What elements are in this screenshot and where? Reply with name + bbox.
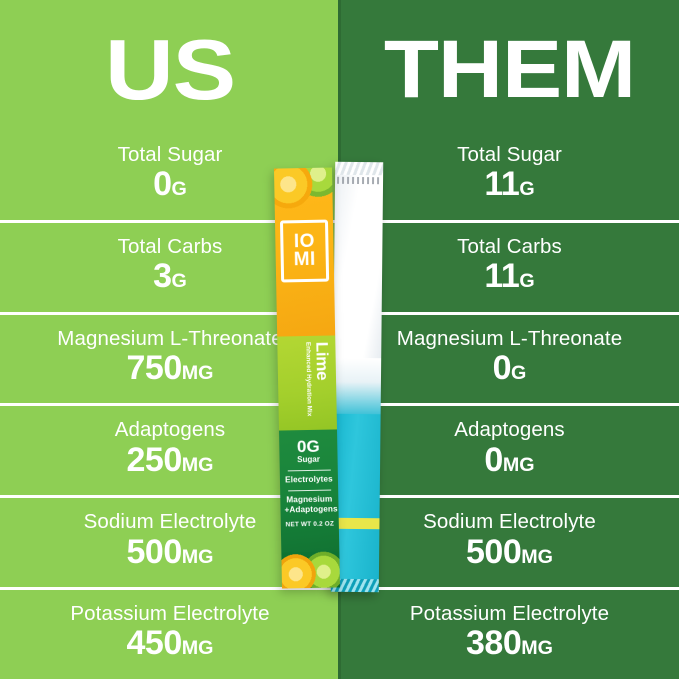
nutrient-label: Total Sugar [457,144,562,166]
value-unit: MG [182,362,214,384]
them-column-heading: THEM [323,27,679,113]
value-unit: G [172,270,187,292]
nutrient-label: Adaptogens [115,419,225,441]
nutrient-label: Potassium Electrolyte [70,603,269,625]
value-number: 11 [484,165,519,203]
value-unit: MG [182,637,214,659]
us-value: 450MG [127,625,214,662]
comparison-table: Total Sugar 0G Total Sugar 11G Total Car… [0,128,679,679]
us-column-heading: US [0,27,360,113]
value-number: 450 [127,624,182,662]
them-value: 500MG [466,534,553,571]
them-cell: Magnesium L-Threonate 0G [340,312,679,404]
value-number: 0 [484,441,502,479]
us-cell: Magnesium L-Threonate 750MG [0,312,340,404]
them-cell: Total Carbs 11G [340,220,679,312]
them-cell: Total Sugar 11G [340,128,679,220]
nutrient-label: Total Carbs [457,236,562,258]
us-cell: Total Sugar 0G [0,128,340,220]
value-unit: G [519,270,534,292]
value-number: 750 [127,349,182,387]
us-cell: Potassium Electrolyte 450MG [0,587,340,679]
value-number: 500 [466,533,521,571]
nutrient-label: Adaptogens [454,419,564,441]
table-row: Potassium Electrolyte 450MG Potassium El… [0,587,679,679]
value-number: 3 [153,257,171,295]
nutrient-label: Magnesium L-Threonate [397,328,622,350]
them-value: 11G [484,258,534,295]
us-value: 750MG [127,350,214,387]
us-cell: Adaptogens 250MG [0,403,340,495]
them-value: 0G [493,350,527,387]
table-row: Magnesium L-Threonate 750MG Magnesium L-… [0,312,679,404]
value-unit: G [511,362,526,384]
nutrient-label: Sodium Electrolyte [84,511,257,533]
value-unit: MG [503,454,535,476]
table-row: Sodium Electrolyte 500MG Sodium Electrol… [0,495,679,587]
value-number: 0 [153,165,171,203]
them-value: 380MG [466,625,553,662]
them-value: 11G [484,166,534,203]
value-number: 500 [127,533,182,571]
value-number: 380 [466,624,521,662]
us-cell: Sodium Electrolyte 500MG [0,495,340,587]
nutrient-label: Total Sugar [118,144,223,166]
them-cell: Sodium Electrolyte 500MG [340,495,679,587]
value-unit: MG [182,454,214,476]
them-cell: Potassium Electrolyte 380MG [340,587,679,679]
value-unit: G [172,178,187,200]
us-value: 0G [153,166,187,203]
value-number: 250 [127,441,182,479]
nutrient-label: Total Carbs [118,236,223,258]
us-value: 3G [153,258,187,295]
value-number: 11 [484,257,519,295]
us-value: 500MG [127,534,214,571]
us-value: 250MG [127,442,214,479]
us-cell: Total Carbs 3G [0,220,340,312]
value-number: 0 [493,349,511,387]
nutrient-label: Magnesium L-Threonate [57,328,282,350]
them-value: 0MG [484,442,534,479]
value-unit: MG [521,546,553,568]
them-cell: Adaptogens 0MG [340,403,679,495]
value-unit: MG [521,637,553,659]
table-row: Adaptogens 250MG Adaptogens 0MG [0,403,679,495]
comparison-infographic: US THEM Total Sugar 0G Total Sugar 11G T… [0,0,679,679]
value-unit: G [519,178,534,200]
value-unit: MG [182,546,214,568]
nutrient-label: Sodium Electrolyte [423,511,596,533]
nutrient-label: Potassium Electrolyte [410,603,609,625]
table-row: Total Carbs 3G Total Carbs 11G [0,220,679,312]
table-row: Total Sugar 0G Total Sugar 11G [0,128,679,220]
